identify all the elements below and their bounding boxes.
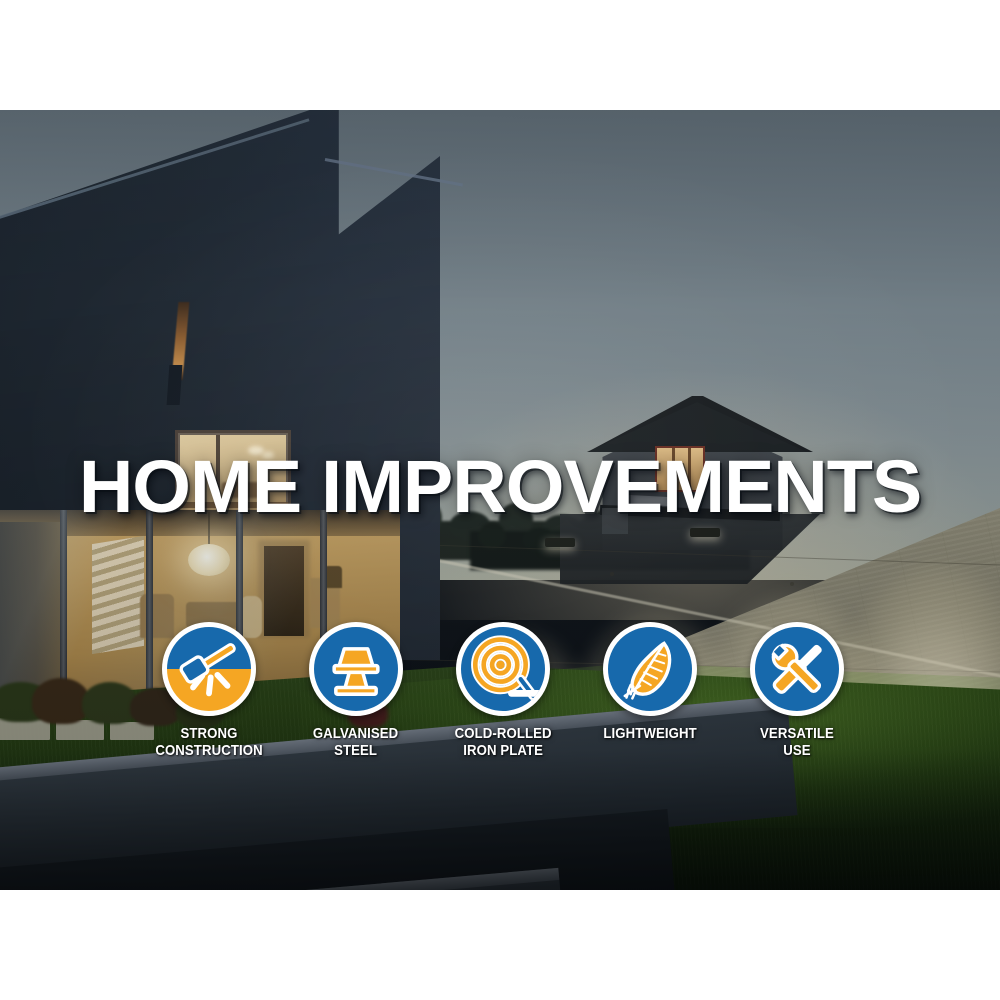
feature-strong-construction[interactable]: STRONG CONSTRUCTION bbox=[143, 622, 275, 759]
feature-icon-row: STRONG CONSTRUCTION GALVANISED STEEL bbox=[143, 622, 863, 772]
roof-notch-shadow bbox=[167, 365, 183, 405]
wall-light-fixture bbox=[690, 528, 720, 537]
feature-cold-rolled-iron-plate[interactable]: COLD-ROLLED IRON PLATE bbox=[437, 622, 569, 759]
feature-label: COLD-ROLLED IRON PLATE bbox=[454, 725, 551, 759]
screwdriver-wrench-icon bbox=[750, 622, 844, 716]
wall-tie-hole bbox=[790, 582, 794, 586]
feature-label: GALVANISED STEEL bbox=[313, 725, 398, 759]
feature-lightweight[interactable]: LIGHTWEIGHT bbox=[584, 622, 716, 742]
feature-label: LIGHTWEIGHT bbox=[603, 725, 696, 742]
feature-galvanised-steel[interactable]: GALVANISED STEEL bbox=[290, 622, 422, 759]
wall-tie-hole bbox=[610, 572, 614, 576]
anvil-ibeam-icon bbox=[309, 622, 403, 716]
wall-light-fixture bbox=[545, 538, 575, 547]
feature-versatile-use[interactable]: VERSATILE USE bbox=[731, 622, 863, 759]
feature-label: STRONG CONSTRUCTION bbox=[155, 725, 262, 759]
product-banner: HOME IMPROVEMENTS bbox=[0, 0, 1000, 1000]
hammer-strike-icon bbox=[162, 622, 256, 716]
steel-coil-icon bbox=[456, 622, 550, 716]
feature-label: VERSATILE USE bbox=[760, 725, 834, 759]
page-title: HOME IMPROVEMENTS bbox=[0, 450, 1000, 524]
feather-icon bbox=[603, 622, 697, 716]
